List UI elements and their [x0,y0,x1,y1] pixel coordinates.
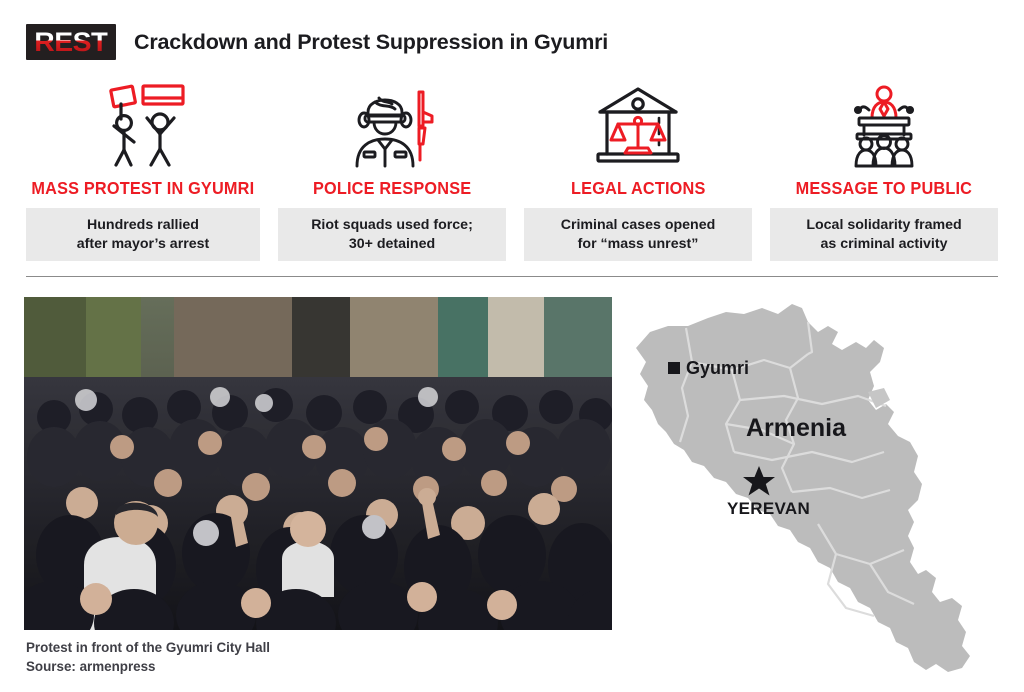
podium-speaker-audience-icon [829,82,939,170]
pillar-title: MASS PROTEST IN GYUMRI [32,178,255,199]
logo-text: REST [34,29,108,56]
square-marker-icon [668,362,680,374]
pillar-caption-line1: Riot squads used force; [311,217,473,233]
pillar-caption-line1: Criminal cases opened [561,217,716,233]
pillar-caption-box: Riot squads used force; 30+ detained [278,208,506,261]
pillar-caption-line1: Local solidarity framed [806,217,961,233]
pillar-caption-box: Local solidarity framed as criminal acti… [770,208,998,261]
pillar-title: MESSAGE TO PUBLIC [796,178,972,199]
pillar-title: LEGAL ACTIONS [571,178,705,199]
photo-caption: Protest in front of the Gyumri City Hall… [26,638,270,677]
pillar-title: POLICE RESPONSE [313,178,471,199]
pillar-caption-line2: 30+ detained [349,236,435,252]
map-city-label: Gyumri [686,358,749,378]
rest-logo: REST [26,24,116,60]
protesters-with-signs-icon [88,82,198,170]
pillar-row: MASS PROTEST IN GYUMRI Hundreds rallied … [26,82,998,261]
photo-caption-line2: Sourse: armenpress [26,659,156,674]
pillar-police-response: POLICE RESPONSE Riot squads used force; … [278,82,506,261]
pillar-caption-line2: after mayor’s arrest [77,236,210,252]
pillar-caption-line2: as criminal activity [821,236,948,252]
protest-photo [24,297,612,630]
map-country-label: Armenia [746,414,847,442]
page-header: REST Crackdown and Protest Suppression i… [26,24,608,60]
pillar-message-to-public: MESSAGE TO PUBLIC Local solidarity frame… [770,82,998,261]
pillar-caption-box: Criminal cases opened for “mass unrest” [524,208,752,261]
map-capital-label: YEREVAN [727,499,810,518]
pillar-legal-actions: LEGAL ACTIONS Criminal cases opened for … [524,82,752,261]
page-title: Crackdown and Protest Suppression in Gyu… [134,30,608,55]
photo-caption-line1: Protest in front of the Gyumri City Hall [26,640,270,655]
pillar-caption-line2: for “mass unrest” [578,236,699,252]
courthouse-scales-icon [583,82,693,170]
pillar-caption-box: Hundreds rallied after mayor’s arrest [26,208,260,261]
section-divider [26,276,998,277]
pillar-mass-protest: MASS PROTEST IN GYUMRI Hundreds rallied … [26,82,260,261]
pillar-caption-line1: Hundreds rallied [87,217,199,233]
riot-police-officer-icon [337,82,447,170]
armenia-map: Gyumri Armenia YEREVAN [622,292,1014,684]
